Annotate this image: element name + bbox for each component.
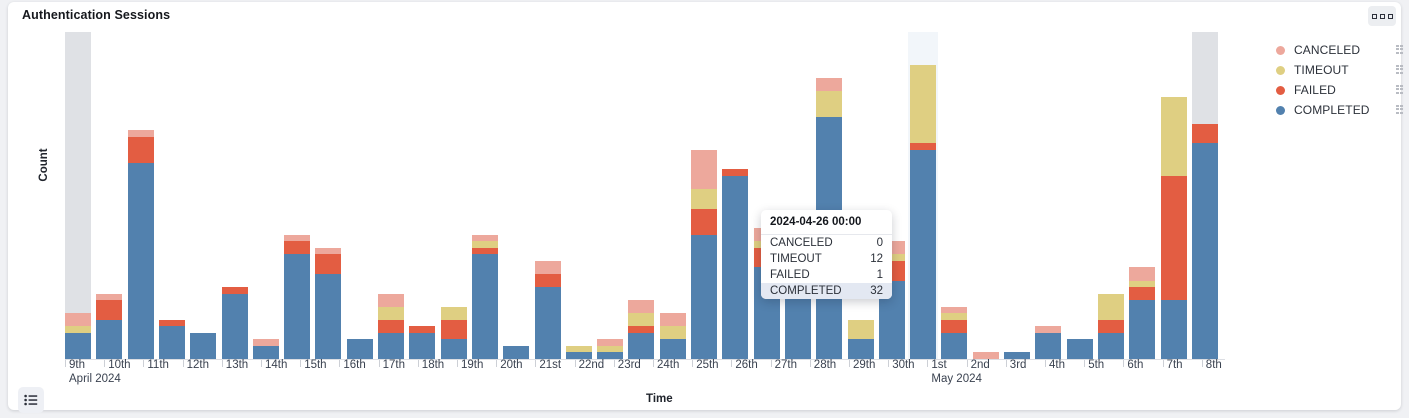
legend-color-dot-icon (1276, 46, 1285, 55)
tooltip-title: 2024-04-26 00:00 (761, 210, 892, 235)
bar-segment-timeout (910, 65, 936, 143)
bar-segment-completed (910, 150, 936, 359)
x-tick-mark (300, 360, 301, 367)
x-tick-label: 6th (1127, 359, 1143, 371)
bar-segment-canceled (96, 294, 122, 301)
grid-square-2 (1380, 14, 1385, 19)
bar-segment-timeout (691, 189, 717, 209)
bar-segment-timeout (660, 326, 686, 339)
x-tick-mark (1123, 360, 1124, 367)
legend-color-dot-icon (1276, 106, 1285, 115)
bar-segment-completed (472, 254, 498, 359)
authentication-sessions-panel: Authentication Sessions Count Time 9thAp… (8, 2, 1401, 410)
legend-item-label: FAILED (1294, 83, 1336, 97)
x-tick-mark (927, 360, 928, 367)
bar-segment-canceled (315, 248, 341, 255)
bar-segment-failed (315, 254, 341, 274)
x-tick-mark (339, 360, 340, 367)
bar-segment-completed (253, 346, 279, 359)
x-tick-mark (967, 360, 968, 367)
x-tick-mark (1202, 360, 1203, 367)
legend-item-label: CANCELED (1294, 43, 1360, 57)
stacked-bar[interactable] (503, 346, 529, 359)
bar-segment-canceled (472, 235, 498, 242)
bar-segment-completed (628, 333, 654, 359)
stacked-bar[interactable] (441, 307, 467, 359)
bar-segment-timeout (472, 241, 498, 248)
bar-segment-failed (1098, 320, 1124, 333)
tooltip-row-value: 12 (870, 253, 883, 265)
x-tick-label: 30th (892, 359, 914, 371)
bar-segment-failed (284, 241, 310, 254)
drag-grip-icon[interactable] (1396, 45, 1404, 55)
stacked-bar[interactable] (566, 346, 592, 359)
x-tick-label: 25th (696, 359, 718, 371)
stacked-bar[interactable] (378, 294, 404, 359)
bar-segment-failed (128, 137, 154, 163)
x-tick-label: 1st (931, 359, 946, 371)
x-tick-label: 8th (1206, 359, 1222, 371)
tooltip-row-key: TIMEOUT (770, 253, 822, 265)
bar-segment-completed (1067, 339, 1093, 359)
tooltip-row-key: COMPLETED (770, 285, 842, 297)
stacked-bar[interactable] (628, 300, 654, 359)
legend-item-timeout[interactable]: TIMEOUT (1276, 60, 1406, 80)
x-tick-mark (653, 360, 654, 367)
bar-segment-failed (941, 320, 967, 333)
stacked-bar[interactable] (347, 339, 373, 359)
grid-square-1 (1372, 14, 1377, 19)
legend-item-completed[interactable]: COMPLETED (1276, 100, 1406, 120)
bar-segment-completed (128, 163, 154, 359)
legend-item-canceled[interactable]: CANCELED (1276, 40, 1406, 60)
x-tick-label: 20th (500, 359, 522, 371)
x-tick-label: 16th (343, 359, 365, 371)
bar-segment-completed (1035, 333, 1061, 359)
bar-segment-timeout (1161, 97, 1187, 175)
stacked-bar[interactable] (1098, 294, 1124, 359)
x-tick-label: 28th (814, 359, 836, 371)
bar-segment-failed (1129, 287, 1155, 300)
x-tick-label: 12th (187, 359, 209, 371)
tooltip-row: TIMEOUT12 (761, 251, 892, 267)
stacked-bar[interactable] (660, 313, 686, 359)
bar-segment-failed (472, 248, 498, 255)
bar-segment-failed (409, 326, 435, 333)
drag-grip-icon[interactable] (1396, 65, 1404, 75)
bar-segment-canceled (535, 261, 561, 274)
legend-item-failed[interactable]: FAILED (1276, 80, 1406, 100)
bar-segment-failed (691, 209, 717, 235)
x-tick-mark (888, 360, 889, 367)
x-tick-mark (222, 360, 223, 367)
x-tick-mark (771, 360, 772, 367)
x-tick-label: 27th (775, 359, 797, 371)
x-tick-mark (261, 360, 262, 367)
list-icon[interactable] (18, 387, 44, 413)
stacked-bar[interactable] (910, 65, 936, 359)
stacked-bar[interactable] (190, 333, 216, 359)
stacked-bar[interactable] (409, 326, 435, 359)
bar-segment-canceled (816, 78, 842, 91)
bar-segment-canceled (128, 130, 154, 137)
bar-segment-timeout (566, 346, 592, 353)
tooltip-row-key: FAILED (770, 269, 810, 281)
chart-plot-area[interactable] (65, 32, 1225, 359)
bar-segment-completed (315, 274, 341, 359)
panel-title: Authentication Sessions (22, 8, 170, 22)
grid-options-icon[interactable] (1368, 6, 1396, 26)
tooltip-row: CANCELED0 (761, 235, 892, 251)
bar-segment-timeout (597, 346, 623, 353)
tooltip-row-value: 32 (870, 285, 883, 297)
x-tick-label: 21st (539, 359, 561, 371)
legend-item-label: TIMEOUT (1294, 63, 1349, 77)
bar-segment-timeout (941, 313, 967, 320)
x-tick-mark (692, 360, 693, 367)
tooltip-row: COMPLETED32 (761, 283, 892, 299)
x-tick-sublabel: April 2024 (69, 373, 121, 385)
bar-segment-timeout (1129, 281, 1155, 288)
bar-segment-canceled (253, 339, 279, 346)
legend-color-dot-icon (1276, 86, 1285, 95)
bar-segment-timeout (816, 91, 842, 117)
stacked-bar[interactable] (128, 130, 154, 359)
x-tick-label: 5th (1088, 359, 1104, 371)
bar-segment-failed (628, 326, 654, 333)
bar-segment-completed (535, 287, 561, 359)
bar-segment-timeout (848, 320, 874, 340)
x-tick-label: 10th (108, 359, 130, 371)
x-tick-label: 19th (461, 359, 483, 371)
stacked-bar[interactable] (315, 248, 341, 359)
tooltip-row-value: 0 (877, 237, 883, 249)
x-tick-label: 26th (735, 359, 757, 371)
bar-segment-failed (1161, 176, 1187, 300)
x-tick-mark (1045, 360, 1046, 367)
x-tick-mark (1084, 360, 1085, 367)
x-tick-label: 24th (657, 359, 679, 371)
tooltip-row: FAILED1 (761, 267, 892, 283)
bar-segment-completed (96, 320, 122, 359)
x-tick-mark (183, 360, 184, 367)
bar-segment-timeout (628, 313, 654, 326)
bar-segment-completed (1161, 300, 1187, 359)
x-tick-mark (1163, 360, 1164, 367)
x-tick-label: 18th (422, 359, 444, 371)
x-tick-mark (614, 360, 615, 367)
x-tick-label: 17th (383, 359, 405, 371)
stacked-bar[interactable] (253, 339, 279, 359)
bar-segment-completed (190, 333, 216, 359)
stacked-bar[interactable] (722, 169, 748, 359)
chart-legend[interactable]: CANCELEDTIMEOUTFAILEDCOMPLETED (1276, 40, 1406, 120)
stacked-bar[interactable] (691, 150, 717, 359)
bar-segment-failed (722, 169, 748, 176)
bar-segment-timeout (1098, 294, 1124, 320)
x-tick-label: 4th (1049, 359, 1065, 371)
x-tick-label: 11th (147, 359, 169, 371)
bar-segment-completed (1098, 333, 1124, 359)
x-tick-mark (104, 360, 105, 367)
bar-segment-canceled (65, 313, 91, 326)
tooltip-row-value: 1 (877, 269, 883, 281)
bar-segment-timeout (441, 307, 467, 320)
drag-grip-icon[interactable] (1396, 105, 1404, 115)
stacked-bar[interactable] (65, 313, 91, 359)
bar-segment-completed (722, 176, 748, 359)
bar-segment-completed (941, 333, 967, 359)
x-tick-mark (1006, 360, 1007, 367)
x-tick-label: 22nd (579, 359, 605, 371)
y-axis-label: Count (38, 148, 50, 181)
stacked-bar[interactable] (597, 339, 623, 359)
x-tick-label: 14th (265, 359, 287, 371)
bar-segment-failed (441, 320, 467, 340)
x-tick-label: 23rd (618, 359, 641, 371)
drag-grip-icon[interactable] (1396, 85, 1404, 95)
x-tick-label: 9th (69, 359, 85, 371)
x-tick-label: 15th (304, 359, 326, 371)
bar-segment-canceled (378, 294, 404, 307)
bar-segment-canceled (691, 150, 717, 189)
bar-segment-completed (1129, 300, 1155, 359)
chart-tooltip: 2024-04-26 00:00 CANCELED0TIMEOUT12FAILE… (761, 210, 892, 299)
bar-segment-completed (347, 339, 373, 359)
legend-color-dot-icon (1276, 66, 1285, 75)
x-tick-mark (810, 360, 811, 367)
bar-segment-completed (378, 333, 404, 359)
bar-segment-completed (691, 235, 717, 359)
bar-segment-canceled (941, 307, 967, 314)
x-tick-label: 13th (226, 359, 248, 371)
x-tick-sublabel: May 2024 (931, 373, 982, 385)
x-axis-ticks: 9thApril 202410th11th12th13th14th15th16t… (65, 360, 1240, 392)
stacked-bar[interactable] (1161, 97, 1187, 359)
x-tick-label: 2nd (971, 359, 990, 371)
bar-segment-failed (535, 274, 561, 287)
x-tick-mark (849, 360, 850, 367)
tooltip-rows: CANCELED0TIMEOUT12FAILED1COMPLETED32 (761, 235, 892, 299)
partial-period-band (65, 32, 91, 359)
bar-segment-completed (159, 326, 185, 359)
stacked-bar[interactable] (535, 261, 561, 359)
stacked-bar[interactable] (1192, 124, 1218, 359)
x-tick-mark (496, 360, 497, 367)
stacked-bar[interactable] (848, 320, 874, 359)
tooltip-row-key: CANCELED (770, 237, 833, 249)
x-tick-mark (457, 360, 458, 367)
bar-segment-completed (284, 254, 310, 359)
stacked-bar[interactable] (1067, 339, 1093, 359)
stacked-bar[interactable] (472, 235, 498, 359)
bar-segment-completed (222, 294, 248, 359)
stacked-bar[interactable] (159, 320, 185, 359)
x-tick-label: 29th (853, 359, 875, 371)
bar-segment-failed (222, 287, 248, 294)
bar-segment-completed (409, 333, 435, 359)
x-tick-mark (575, 360, 576, 367)
chart-screenshot: Authentication Sessions Count Time 9thAp… (0, 0, 1409, 418)
bar-segment-completed (848, 339, 874, 359)
bar-segment-completed (441, 339, 467, 359)
bar-segment-timeout (378, 307, 404, 320)
bar-segment-failed (378, 320, 404, 333)
bar-segment-canceled (628, 300, 654, 313)
x-tick-mark (731, 360, 732, 367)
x-axis-label: Time (646, 393, 673, 405)
bar-segment-failed (910, 143, 936, 150)
bar-segment-timeout (65, 326, 91, 333)
stacked-bar[interactable] (96, 294, 122, 359)
x-tick-mark (143, 360, 144, 367)
bar-segment-canceled (284, 235, 310, 242)
bar-segment-canceled (1129, 267, 1155, 280)
bar-segment-failed (159, 320, 185, 327)
x-tick-mark (535, 360, 536, 367)
list-icon-glyph (24, 394, 38, 406)
x-tick-label: 7th (1167, 359, 1183, 371)
grid-square-3 (1388, 14, 1393, 19)
bar-segment-completed (660, 339, 686, 359)
stacked-bar[interactable] (284, 235, 310, 359)
bar-segment-completed (503, 346, 529, 359)
bar-segment-canceled (597, 339, 623, 346)
stacked-bar[interactable] (1129, 267, 1155, 359)
legend-item-label: COMPLETED (1294, 103, 1370, 117)
x-tick-mark (379, 360, 380, 367)
bar-segment-completed (1192, 143, 1218, 359)
bar-segment-failed (1192, 124, 1218, 144)
bar-segment-failed (96, 300, 122, 320)
x-tick-mark (65, 360, 66, 367)
bar-segment-completed (65, 333, 91, 359)
stacked-bar[interactable] (941, 307, 967, 359)
x-tick-mark (418, 360, 419, 367)
bar-segment-canceled (1035, 326, 1061, 333)
stacked-bar[interactable] (1035, 326, 1061, 359)
bar-segment-canceled (660, 313, 686, 326)
stacked-bar[interactable] (222, 287, 248, 359)
x-tick-label: 3rd (1010, 359, 1027, 371)
